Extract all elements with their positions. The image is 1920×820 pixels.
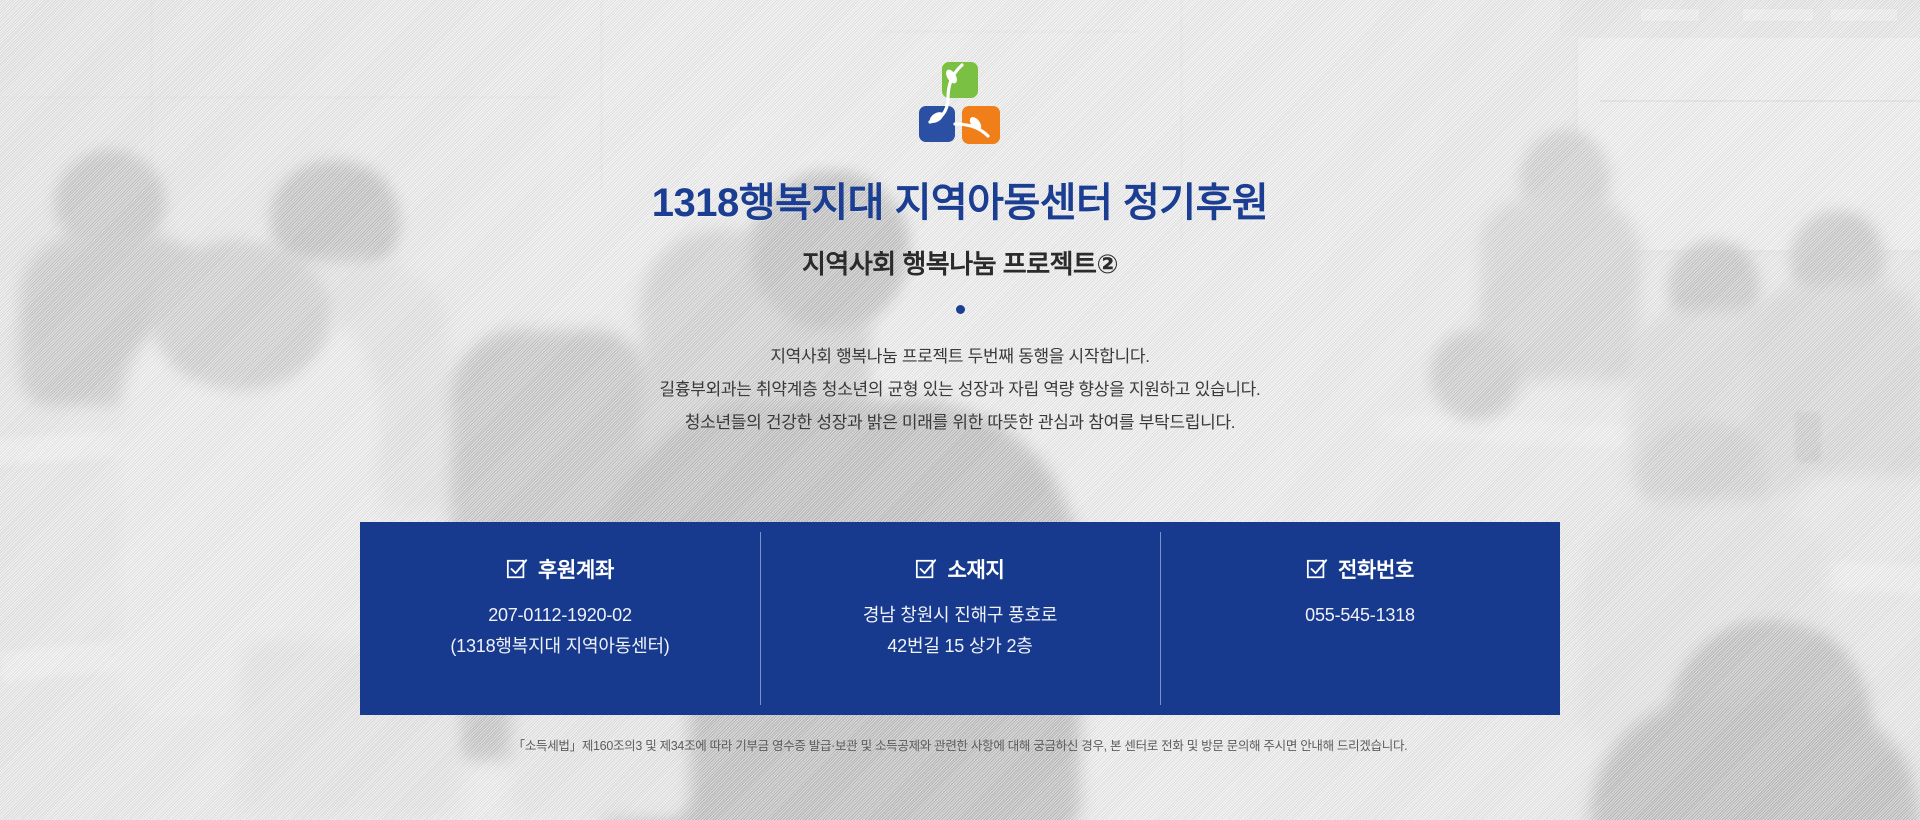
contact-info-box: 후원계좌 207-0112-1920-02 (1318행복지대 지역아동센터) … [360,522,1560,715]
center-logo [918,62,1002,148]
page-title: 1318행복지대 지역아동센터 정기후원 [652,170,1268,228]
page-subtitle: 지역사회 행복나눔 프로젝트② [802,244,1118,281]
info-line: 경남 창원시 진해구 풍호로 [863,600,1057,631]
body-paragraph: 지역사회 행복나눔 프로젝트 두번째 동행을 시작합니다. 길흉부외과는 취약계… [660,340,1261,439]
info-column-location: 소재지 경남 창원시 진해구 풍호로 42번길 15 상가 2층 [760,522,1160,715]
info-column-lines: 055-545-1318 [1305,600,1415,631]
info-line: (1318행복지대 지역아동센터) [450,631,669,662]
info-column-lines: 207-0112-1920-02 (1318행복지대 지역아동센터) [450,600,669,662]
info-column-heading: 전화번호 [1306,554,1414,584]
info-line: 055-545-1318 [1305,600,1415,631]
info-column-heading: 후원계좌 [506,554,614,584]
info-column-phone: 전화번호 055-545-1318 [1160,522,1560,715]
donation-banner: 여러분은 '자기인식' 어느정도 되어있나요? [0,0,1920,820]
info-column-heading: 소재지 [915,554,1004,584]
body-line: 지역사회 행복나눔 프로젝트 두번째 동행을 시작합니다. [660,340,1261,373]
info-heading-label: 전화번호 [1338,554,1414,584]
check-square-icon [1306,558,1328,580]
check-square-icon [915,558,937,580]
divider-dot [956,305,965,314]
info-line: 207-0112-1920-02 [450,600,669,631]
tax-disclaimer-note: 「소득세법」제160조의3 및 제34조에 따라 기부금 영수증 발급·보관 및… [0,735,1920,754]
info-column-lines: 경남 창원시 진해구 풍호로 42번길 15 상가 2층 [863,600,1057,662]
info-line: 42번길 15 상가 2층 [863,631,1057,662]
body-line: 청소년들의 건강한 성장과 밝은 미래를 위한 따뜻한 관심과 참여를 부탁드립… [660,406,1261,439]
info-heading-label: 소재지 [947,554,1004,584]
body-line: 길흉부외과는 취약계층 청소년의 균형 있는 성장과 자립 역량 향상을 지원하… [660,373,1261,406]
logo-square-blue [919,106,955,142]
info-column-account: 후원계좌 207-0112-1920-02 (1318행복지대 지역아동센터) [360,522,760,715]
check-square-icon [506,558,528,580]
info-heading-label: 후원계좌 [538,554,614,584]
